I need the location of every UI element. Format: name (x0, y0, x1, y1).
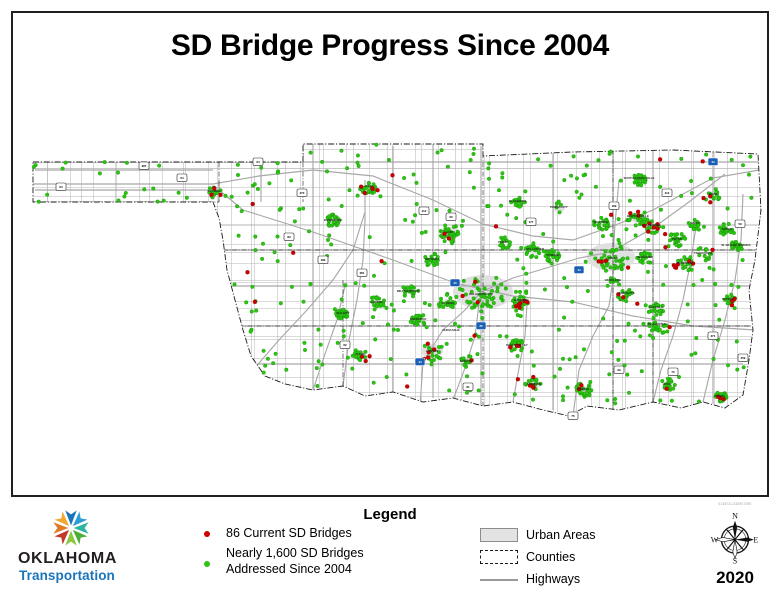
bridge-dot (654, 313, 658, 317)
bridge-dot (402, 176, 406, 180)
svg-text:83: 83 (287, 235, 291, 239)
svg-text:183: 183 (321, 258, 326, 262)
svg-text:N: N (732, 512, 738, 521)
bridge-dot (503, 236, 507, 240)
bridge-dot (412, 173, 416, 177)
bridge-dot (712, 268, 716, 272)
city-label: CLINTON (370, 300, 383, 304)
bridge-dot (549, 164, 553, 168)
bridge-dot (253, 300, 257, 304)
bridge-dot (317, 359, 321, 363)
bridge-dot (519, 348, 523, 352)
city-label: WOODWARD (324, 218, 342, 222)
highway-shield: 35 (476, 322, 486, 330)
bridge-dot (386, 323, 390, 327)
bridge-dot (380, 259, 384, 263)
bridge-dot (273, 250, 277, 254)
bridge-dot (236, 173, 240, 177)
city-label: POTEAU (722, 297, 734, 301)
bridge-dot (372, 274, 376, 278)
city-label: TULSA (608, 256, 619, 260)
bridge-dot (340, 149, 344, 153)
bridge-dot (291, 251, 295, 255)
bridge-dot (462, 363, 466, 367)
bridge-dot (642, 322, 646, 326)
page-title: SD Bridge Progress Since 2004 (13, 29, 767, 63)
bridge-dot (730, 303, 734, 307)
bridge-dot (712, 357, 716, 361)
bridge-dot (575, 190, 579, 194)
bridge-dot (279, 301, 283, 305)
bridge-dot (426, 355, 430, 359)
bridge-dot (618, 241, 622, 245)
bridge-dot (640, 369, 644, 373)
bridge-dot (413, 213, 417, 217)
city-label: SHAWNEE (514, 298, 529, 302)
highway-shield: 64 (177, 174, 187, 182)
bridge-dot (362, 284, 366, 288)
bridge-dot (342, 329, 346, 333)
bridge-dot (415, 202, 419, 206)
bridge-dot (550, 262, 554, 266)
bridge-dot (495, 289, 499, 293)
legend-label-highways: Highways (526, 570, 580, 588)
svg-text:44: 44 (418, 360, 422, 364)
svg-text:64: 64 (59, 185, 63, 189)
bridge-dot (481, 371, 485, 375)
bridge-dot (224, 194, 228, 198)
bridge-dot (686, 303, 690, 307)
bridge-dot (443, 239, 447, 243)
bridge-dot (605, 226, 609, 230)
bridge-dot (259, 166, 263, 170)
bridge-dot (276, 235, 280, 239)
bridge-dot (605, 398, 609, 402)
city-label: VINITA (690, 221, 700, 225)
bridge-dot (627, 391, 631, 395)
bridge-dot (321, 363, 325, 367)
bridge-dot (551, 240, 555, 244)
bridge-dot (627, 218, 631, 222)
bridge-dot (626, 266, 630, 270)
bridge-dot (680, 232, 684, 236)
bridge-dot (675, 243, 679, 247)
bridge-dot (477, 389, 481, 393)
bridge-dot (461, 288, 465, 292)
bridge-dot (476, 300, 480, 304)
city-label: PERRY (498, 240, 508, 244)
bridge-dot (619, 179, 623, 183)
bridge-dot (288, 243, 292, 247)
bridge-dot (575, 177, 579, 181)
bridge-dot (565, 285, 569, 289)
bridge-dot (498, 334, 502, 338)
bridge-dot (293, 220, 297, 224)
bridge-dot (561, 394, 565, 398)
highway-shield: 287 (139, 162, 149, 170)
legend-layers-column: Urban Areas Counties Highways (480, 526, 710, 592)
bridge-dot (708, 266, 712, 270)
city-label: GUYMON (207, 189, 220, 193)
bridge-dot (342, 334, 346, 338)
city-label: PRYOR (672, 237, 683, 241)
bridge-dot (315, 366, 319, 370)
legend-item-addressed-sd-bridges: Nearly 1,600 SD Bridges Addressed Since … (200, 546, 460, 577)
bridge-dot (605, 264, 609, 268)
bridge-dot (658, 157, 662, 161)
bridge-dot (230, 195, 234, 199)
city-label: IDABEL (715, 394, 726, 398)
bridge-dot (236, 163, 240, 167)
bridge-dot (473, 280, 477, 284)
bridge-dot (588, 380, 592, 384)
bridge-dot (391, 173, 395, 177)
bridge-dot (572, 155, 576, 159)
city-label: GROVE (722, 227, 733, 231)
bridge-dot (487, 204, 491, 208)
bridge-dot (481, 303, 485, 307)
bridge-dot (558, 210, 562, 214)
bridge-dot (461, 219, 465, 223)
bridge-dot (411, 220, 415, 224)
city-label: SKIATOOK (594, 220, 610, 224)
bridge-dot (364, 359, 368, 363)
bridge-dot (185, 196, 189, 200)
bridge-dot (646, 270, 650, 274)
bridge-dot (246, 191, 250, 195)
bridge-dot (469, 355, 473, 359)
bridge-dot (604, 269, 608, 273)
bridge-dot (658, 185, 662, 189)
bridge-dot (385, 375, 389, 379)
bridge-dot (325, 170, 329, 174)
highway-shield: 75 (568, 412, 578, 420)
svg-text:281: 281 (360, 271, 365, 275)
bridge-dot (405, 385, 409, 389)
bridge-dot (490, 297, 494, 301)
bridge-dot (435, 208, 439, 212)
bridge-dot (543, 288, 547, 292)
bridge-dot (613, 397, 617, 401)
bridge-dot (303, 348, 307, 352)
bridge-dot (585, 164, 589, 168)
city-label: BARTLESVILLE (627, 214, 649, 218)
bridge-dot (647, 310, 651, 314)
bridge-dot (562, 316, 566, 320)
bridge-dot (663, 232, 667, 236)
bridge-dot (500, 176, 504, 180)
bridge-dot (729, 293, 733, 297)
city-label: ENID (447, 230, 454, 234)
highway-shield: 40 (450, 279, 460, 287)
bridge-dot (621, 295, 625, 299)
bridge-dot (125, 161, 129, 165)
bridge-dot (142, 188, 146, 192)
map-canvas: GUYMONALVASOUTH COFFEYVILLEBLACKWELLPONC… (13, 85, 771, 495)
bridge-dot (262, 371, 266, 375)
bridge-dot (597, 226, 601, 230)
bridge-dot (607, 372, 611, 376)
bridge-dot (452, 225, 456, 229)
highway-shield: 44 (708, 158, 718, 166)
bridge-dot (494, 224, 498, 228)
bridge-dot (402, 299, 406, 303)
bridge-dot (177, 191, 181, 195)
svg-text:177: 177 (529, 220, 534, 224)
bridge-dot (468, 170, 472, 174)
highway-shield: 281 (357, 269, 367, 277)
bridge-dot (600, 228, 604, 232)
legend-markers-column: 86 Current SD Bridges Nearly 1,600 SD Br… (200, 526, 460, 581)
highway-shield: 169 (609, 202, 619, 210)
bridge-dot (737, 247, 741, 251)
bridge-dot (432, 358, 436, 362)
bridge-dot (472, 186, 476, 190)
bridge-dot (350, 367, 354, 371)
bridge-dot (219, 193, 223, 197)
bridge-dot (500, 295, 504, 299)
bridge-dot (117, 199, 121, 203)
bridge-dot (244, 301, 248, 305)
bridge-dot (422, 321, 426, 325)
bridge-dot (390, 303, 394, 307)
bridge-dot (692, 227, 696, 231)
bridge-dot (448, 209, 452, 213)
bridge-dot (430, 363, 434, 367)
bridge-dot (639, 218, 643, 222)
bridge-dot (253, 182, 257, 186)
bridge-dot (514, 203, 518, 207)
svg-text:40: 40 (453, 281, 457, 285)
bridge-dot (594, 185, 598, 189)
bridge-dot (486, 299, 490, 303)
bridge-dot (518, 205, 522, 209)
bridge-dot (336, 341, 340, 345)
bridge-dot (354, 281, 358, 285)
bridge-dot (428, 303, 432, 307)
city-label: HUGO (663, 382, 672, 386)
bridge-dot (726, 363, 730, 367)
bridge-dot (561, 357, 565, 361)
bridge-dot (274, 352, 278, 356)
bridge-dot (116, 171, 120, 175)
bridge-dot (513, 347, 517, 351)
bridge-dot (700, 278, 704, 282)
bridge-dot (701, 159, 705, 163)
bridge-dot (156, 200, 160, 204)
bridge-dot (472, 297, 476, 301)
bridge-dot (356, 154, 360, 158)
bridge-dot (373, 338, 377, 342)
bridge-dot (64, 161, 68, 165)
city-label: W. SILOAM SPRINGS (721, 243, 750, 247)
bridge-dot (621, 263, 625, 267)
bridge-dot (588, 394, 592, 398)
highway-shield: 44 (415, 358, 425, 366)
bridge-dot (624, 299, 628, 303)
bridge-dot (750, 196, 754, 200)
bridge-dot (433, 252, 437, 256)
bridge-dot (276, 171, 280, 175)
bridge-dot (644, 303, 648, 307)
bridge-dot (452, 235, 456, 239)
bridge-dot (625, 227, 629, 231)
bridge-dot (534, 255, 538, 259)
bridge-dot (425, 325, 429, 329)
bridge-dot (449, 296, 453, 300)
bridge-dot (601, 234, 605, 238)
bridge-dot (620, 246, 624, 250)
bridge-dot (672, 263, 676, 267)
legend-item-urban-areas: Urban Areas (480, 526, 710, 546)
bridge-dot (582, 348, 586, 352)
bridge-dot (45, 193, 49, 197)
bridge-dot (316, 384, 320, 388)
bridge-dot (499, 283, 503, 287)
bridge-dot (423, 301, 427, 305)
bridge-dot (580, 193, 584, 197)
bridge-dot (646, 260, 650, 264)
bridge-dot (664, 264, 668, 268)
bridge-dot (254, 248, 258, 252)
bridge-dot (617, 358, 621, 362)
bridge-dot (601, 317, 605, 321)
bridge-dot (648, 334, 652, 338)
bridge-dot (651, 336, 655, 340)
highway-shield: 62 (340, 341, 350, 349)
bridge-dot (653, 309, 657, 313)
bridge-dot (692, 283, 696, 287)
highway-shield: 270 (297, 189, 307, 197)
logo-agency-text: OKLAHOMA (18, 550, 146, 567)
highway-shield: 271 (708, 332, 718, 340)
bridge-dot (617, 217, 621, 221)
bridge-dot (639, 183, 643, 187)
highway-shield: 59 (735, 220, 745, 228)
bridge-dot (516, 313, 520, 317)
bridge-dot (465, 374, 469, 378)
compass-rose-icon: N S W E (708, 510, 762, 566)
map-layer-counties (13, 140, 771, 440)
bridge-dot (436, 151, 440, 155)
bridge-dot (343, 283, 347, 287)
bridge-dot (271, 361, 275, 365)
map-meta-id: 0145721-53490729E (700, 502, 770, 506)
bridge-dot (608, 152, 612, 156)
bridge-dot (606, 284, 610, 288)
bridge-dot (516, 354, 520, 358)
bridge-dot (465, 391, 469, 395)
bridge-dot (124, 191, 128, 195)
bridge-dot (372, 381, 376, 385)
bridge-dot (726, 207, 730, 211)
bridge-dot (702, 196, 706, 200)
bridge-dot (266, 357, 270, 361)
legend-bar: Legend (0, 500, 780, 603)
bridge-dot (708, 200, 712, 204)
bridge-dot (368, 354, 372, 358)
city-label: ELK CITY (336, 311, 349, 315)
bridge-dot (303, 341, 307, 345)
bridge-dot (597, 158, 601, 162)
highway-shield: 412 (419, 207, 429, 215)
highway-shield: 69 (614, 366, 624, 374)
bridge-dot (689, 179, 693, 183)
legend-label-addressed-line2: Addressed Since 2004 (226, 562, 460, 578)
highway-shield: 177 (526, 218, 536, 226)
bridge-dot (461, 294, 465, 298)
bridge-dot (327, 224, 331, 228)
city-label: ALVA (364, 184, 372, 188)
bridge-dot (504, 246, 508, 250)
highway-shield: 64 (253, 158, 263, 166)
bridge-dot (583, 392, 587, 396)
bridge-dot (613, 264, 617, 268)
bridge-dot (420, 231, 424, 235)
bridge-dot (625, 373, 629, 377)
svg-text:270: 270 (300, 191, 305, 195)
highway-shield: 83 (284, 233, 294, 241)
highway-shield: 64 (56, 183, 66, 191)
bridge-dot (440, 148, 444, 152)
bridge-dot (451, 305, 455, 309)
bridge-dot (470, 306, 474, 310)
city-label: EUFAULA (649, 305, 664, 309)
bridge-dot (454, 295, 458, 299)
bridge-dot (476, 352, 480, 356)
bridge-dot (553, 375, 557, 379)
bridge-dot (411, 294, 415, 298)
bridge-dot (416, 323, 420, 327)
bridge-dot (505, 335, 509, 339)
map-year: 2020 (700, 568, 770, 588)
bridge-dot (586, 289, 590, 293)
bridge-dot (290, 285, 294, 289)
bridge-dot (636, 155, 640, 159)
bridge-dot (157, 164, 161, 168)
bridge-dot (375, 304, 379, 308)
bridge-dot (561, 398, 565, 402)
city-label: MIAMI (709, 192, 718, 196)
bridge-dot (679, 194, 683, 198)
bridge-dot (492, 301, 496, 305)
city-label: SOUTH COFFEYVILLE (624, 176, 655, 180)
bridge-dot (438, 356, 442, 360)
bridge-dot (690, 353, 694, 357)
bridge-dot (557, 328, 561, 332)
bridge-dot (444, 250, 448, 254)
bridge-dot (373, 308, 377, 312)
bridge-dot (558, 367, 562, 371)
bridge-dot (435, 354, 439, 358)
bridge-dot (489, 305, 493, 309)
red-dot-icon (204, 531, 210, 537)
bridge-dot (348, 188, 352, 192)
bridge-dot (376, 188, 380, 192)
bridge-dot (686, 320, 690, 324)
bridge-dot (603, 254, 607, 258)
svg-text:412: 412 (665, 191, 670, 195)
bridge-dot (284, 368, 288, 372)
bridge-dot (611, 248, 615, 252)
bridge-dot (665, 387, 669, 391)
bridge-dot (445, 293, 449, 297)
bridge-dot (747, 173, 751, 177)
bridge-dot (249, 330, 253, 334)
bridge-dot (566, 386, 570, 390)
bridge-dot (628, 199, 632, 203)
bridge-dot (683, 255, 687, 259)
